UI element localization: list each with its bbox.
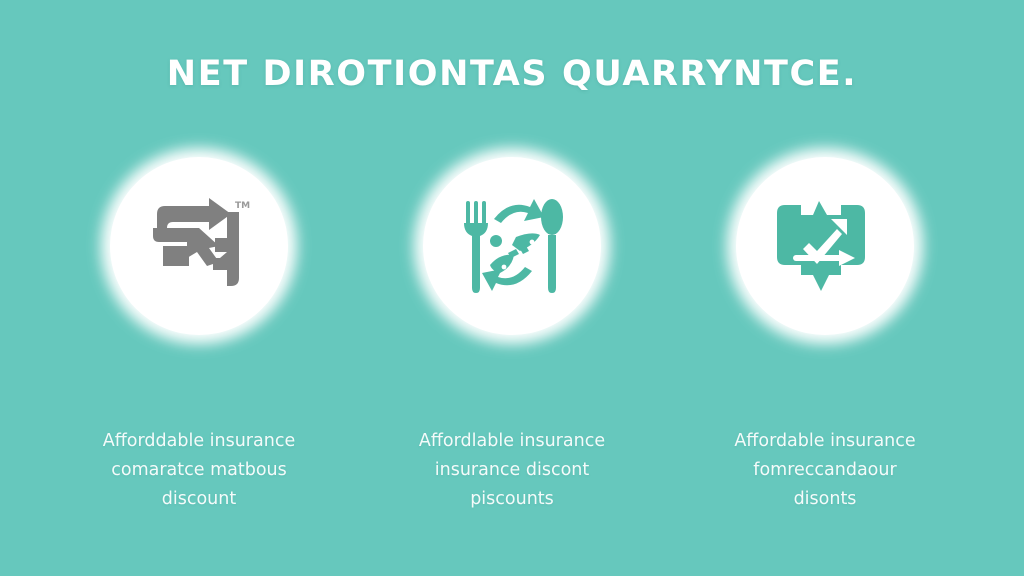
caption-line: insurance discont: [387, 456, 637, 485]
page-title: NET DIROTIONTAS QUARRYNTCE.: [0, 54, 1024, 94]
infographic-slide: NET DIROTIONTAS QUARRYNTCE.: [0, 0, 1024, 576]
feature-caption-3: Affordable insurance fomreccandaour diso…: [700, 427, 950, 514]
caption-line: discount: [74, 485, 324, 514]
feature-caption-2: Affordlable insurance insurance discont …: [387, 427, 637, 514]
caption-line: Afforddable insurance: [74, 427, 324, 456]
feature-column-3: Affordable insurance fomreccandaour diso…: [692, 150, 958, 514]
caption-line: Affordable insurance: [700, 427, 950, 456]
svg-text:TM: TM: [235, 201, 250, 211]
feature-column-1: TM Afforddable insurance comaratce matbo…: [66, 150, 332, 514]
feature-columns: TM Afforddable insurance comaratce matbo…: [0, 150, 1024, 514]
exchange-arrows-icon: TM: [141, 188, 257, 304]
icon-circle-3[interactable]: [729, 150, 921, 342]
speech-bubble-chart-arrow-icon: [767, 188, 883, 304]
fork-spoon-recycle-icon: [454, 188, 570, 304]
icon-circle-1[interactable]: TM: [103, 150, 295, 342]
feature-caption-1: Afforddable insurance comaratce matbous …: [74, 427, 324, 514]
caption-line: fomreccandaour: [700, 456, 950, 485]
icon-circle-2[interactable]: [416, 150, 608, 342]
caption-line: comaratce matbous: [74, 456, 324, 485]
caption-line: Affordlable insurance: [387, 427, 637, 456]
feature-column-2: Affordlable insurance insurance discont …: [379, 150, 645, 514]
caption-line: disonts: [700, 485, 950, 514]
caption-line: piscounts: [387, 485, 637, 514]
